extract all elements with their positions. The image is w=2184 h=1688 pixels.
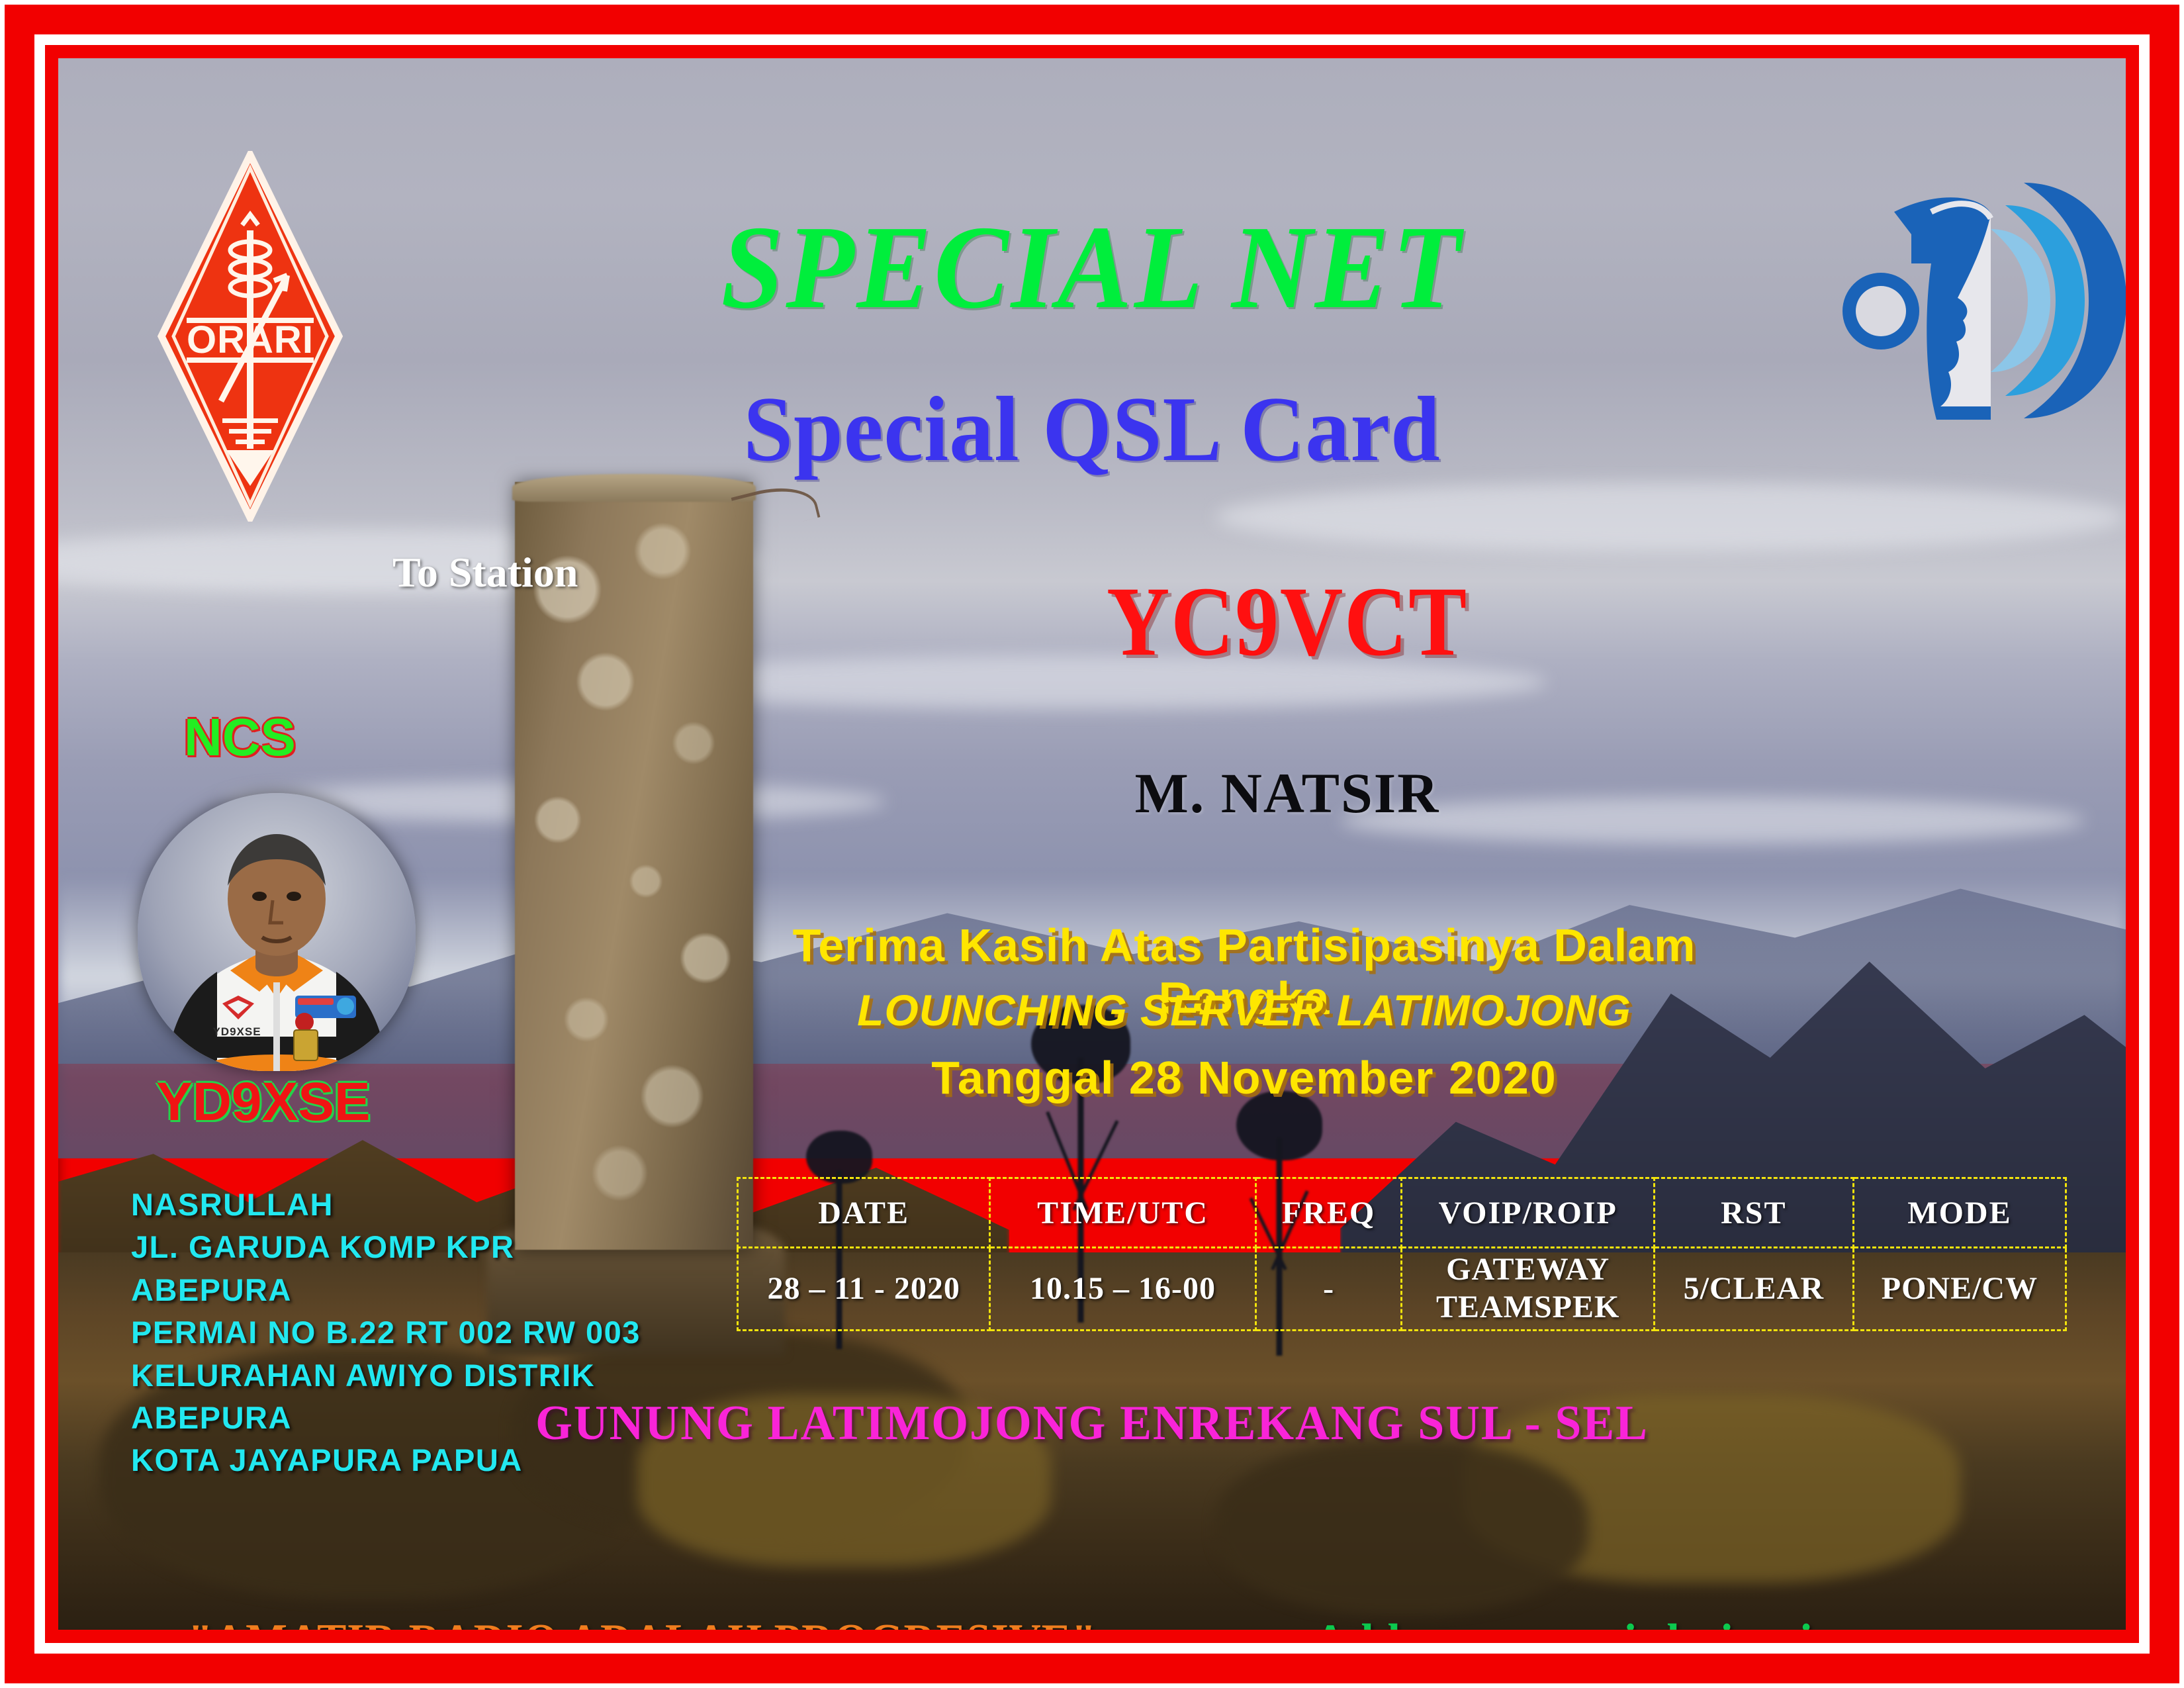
address-line: KELURAHAN AWIYO DISTRIK: [131, 1354, 641, 1397]
cell-voip-roip: GATEWAYTEAMSPEK: [1402, 1248, 1654, 1331]
col-header-voip-roip: VOIP/ROIP: [1402, 1178, 1654, 1248]
qso-log-table: DATE TIME/UTC FREQ VOIP/ROIP RST MODE 28…: [737, 1177, 2067, 1331]
event-title-line: LOUNCHING SERVER LATIMOJONG: [720, 985, 1768, 1035]
col-header-time: TIME/UTC: [990, 1178, 1255, 1248]
operator-portrait-icon: YD9XSE: [138, 793, 416, 1071]
address-line: NASRULLAH: [131, 1184, 641, 1226]
cell-rst: 5/CLEAR: [1654, 1248, 1853, 1331]
footer-web-address: Address : amatir.latimojong.com: [1314, 1614, 1985, 1630]
background-photograph: ORARI: [58, 58, 2126, 1630]
rock-mass: [1216, 1441, 1588, 1614]
cloud-streak: [1216, 483, 2126, 551]
page-title-special-net: SPECIAL NET: [120, 199, 2064, 336]
event-date-line: Tanggal 28 November 2020: [720, 1051, 1768, 1104]
station-callsign: YC9VCT: [876, 565, 1699, 679]
svg-text:YD9XSE: YD9XSE: [212, 1025, 261, 1038]
ncs-callsign: YD9XSE: [156, 1071, 371, 1133]
to-station-label: To Station: [392, 548, 578, 597]
table-row: 28 – 11 - 2020 10.15 – 16-00 - GATEWAYTE…: [738, 1248, 2066, 1331]
subtitle-special-qsl-card: Special QSL Card: [99, 376, 2084, 483]
location-caption: GUNUNG LATIMOJONG ENREKANG SUL - SEL: [89, 1395, 2095, 1452]
table-header-row: DATE TIME/UTC FREQ VOIP/ROIP RST MODE: [738, 1178, 2066, 1248]
cell-date: 28 – 11 - 2020: [738, 1248, 990, 1331]
col-header-freq: FREQ: [1255, 1178, 1402, 1248]
footer-motto: "AMATIR RADIO ADALAH PROGRESIVE": [188, 1614, 1097, 1630]
ncs-label: NCS: [184, 707, 296, 768]
operator-name: M. NATSIR: [819, 760, 1755, 826]
address-line: PERMAI NO B.22 RT 002 RW 003: [131, 1311, 641, 1354]
cell-freq: -: [1255, 1248, 1402, 1331]
qsl-card: ORARI: [0, 0, 2184, 1688]
col-header-mode: MODE: [1853, 1178, 2066, 1248]
address-line: ABEPURA: [131, 1269, 641, 1311]
avatar: YD9XSE: [138, 793, 416, 1071]
stone-pillar-monument: [515, 482, 753, 1250]
col-header-date: DATE: [738, 1178, 990, 1248]
address-line: JL. GARUDA KOMP KPR: [131, 1226, 641, 1268]
cell-mode: PONE/CW: [1853, 1248, 2066, 1331]
col-header-rst: RST: [1654, 1178, 1853, 1248]
cell-time: 10.15 – 16-00: [990, 1248, 1255, 1331]
